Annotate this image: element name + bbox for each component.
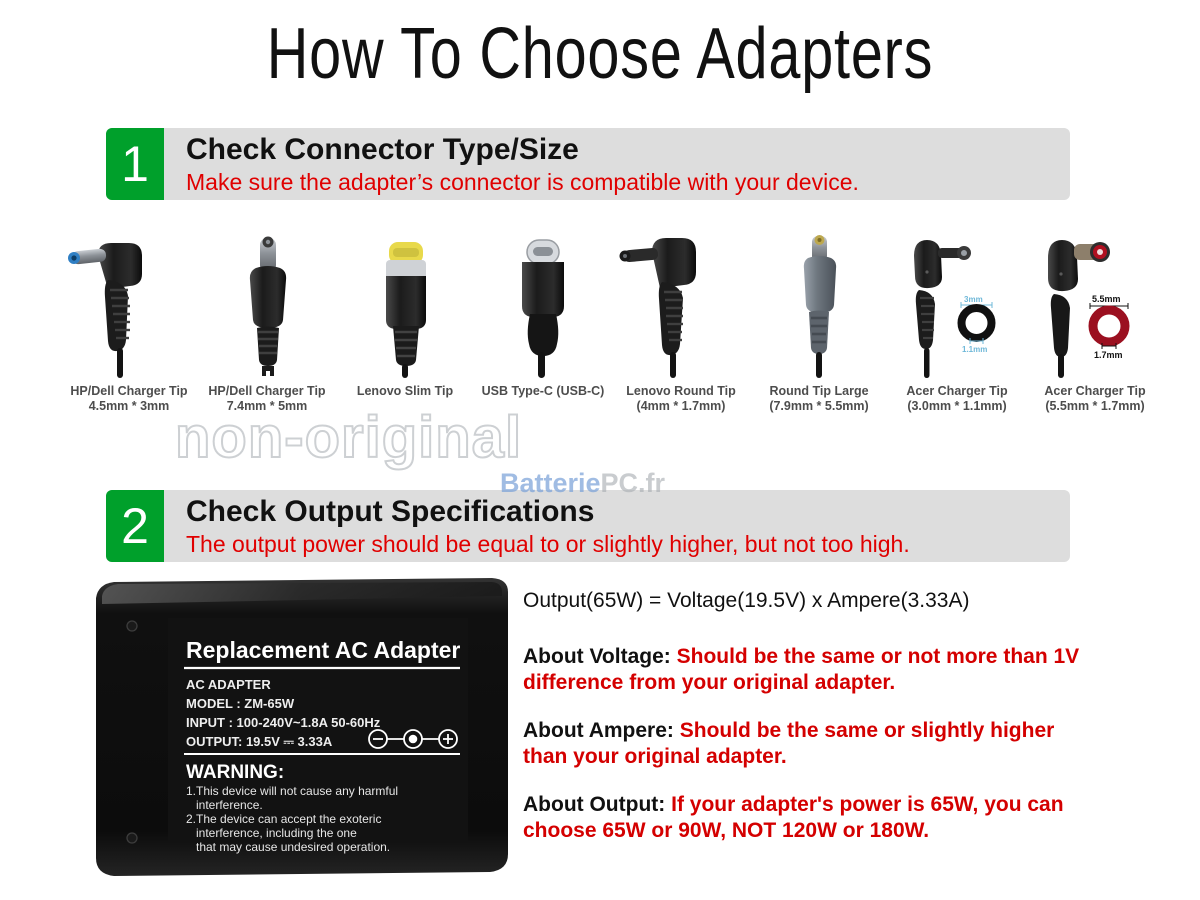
connector-item-lenovo-round: Lenovo Round Tip (4mm * 1.7mm) [612,228,750,428]
spec-item-ampere: About Ampere: Should be the same or slig… [523,718,1083,770]
svg-text:Replacement AC Adapter: Replacement AC Adapter [186,637,460,663]
acer-large-tip-icon: 5.5mm 1.7mm [1026,228,1164,378]
connector-item-hp-dell-45x3: HP/Dell Charger Tip 4.5mm * 3mm [60,228,198,428]
connector-name: Acer Charger Tip [1044,384,1145,398]
connector-dimension: 4.5mm * 3mm [60,399,198,414]
connector-item-hp-dell-74x5: HP/Dell Charger Tip 7.4mm * 5mm [198,228,336,428]
step-1-heading: Check Connector Type/Size [186,133,859,167]
connector-dimension: 7.4mm * 5mm [198,399,336,414]
lenovo-round-tip-icon [612,228,750,378]
svg-text:interference.: interference. [196,798,263,812]
step-1-banner: 1 Check Connector Type/Size Make sure th… [106,128,1070,200]
connector-item-acer-30x11: 3mm 1.1mm Acer Charger Tip (3.0mm * 1.1m… [888,228,1026,428]
page-title: How To Choose Adapters [120,16,1080,92]
step-2-heading: Check Output Specifications [186,495,910,529]
connector-item-round-large: Round Tip Large (7.9mm * 5.5mm) [750,228,888,428]
output-spec-list: Output(65W) = Voltage(19.5V) x Ampere(3.… [523,588,1083,866]
step-2-number-badge: 2 [106,490,164,562]
usb-type-c-icon [474,228,612,378]
connector-name: HP/Dell Charger Tip [70,384,187,398]
connector-name: Acer Charger Tip [906,384,1007,398]
connector-dimension: (5.5mm * 1.7mm) [1026,399,1164,414]
connector-label: USB Type-C (USB-C) [474,384,612,399]
step-2-text-block: Check Output Specifications The output p… [164,490,910,562]
connector-label: Round Tip Large (7.9mm * 5.5mm) [750,384,888,414]
svg-text:OUTPUT: 19.5V ⎓ 3.33A: OUTPUT: 19.5V ⎓ 3.33A [186,734,333,749]
connector-name: Lenovo Round Tip [626,384,735,398]
svg-text:that may cause undesired opera: that may cause undesired operation. [196,840,390,854]
round-tip-large-icon [750,228,888,378]
connector-dimension: (4mm * 1.7mm) [612,399,750,414]
connector-label: Lenovo Slim Tip [336,384,474,399]
hp-dell-barrel-tip-icon [198,228,336,378]
svg-text:MODEL : ZM-65W: MODEL : ZM-65W [186,696,295,711]
output-formula: Output(65W) = Voltage(19.5V) x Ampere(3.… [523,588,1083,614]
svg-text:1.1mm: 1.1mm [962,345,987,354]
connector-label: Lenovo Round Tip (4mm * 1.7mm) [612,384,750,414]
connector-label: HP/Dell Charger Tip 4.5mm * 3mm [60,384,198,414]
svg-text:INPUT : 100-240V~1.8A 50-60H: INPUT : 100-240V~1.8A 50-60Hz [186,715,381,730]
connector-gallery: HP/Dell Charger Tip 4.5mm * 3mm HP/Dell … [60,228,1160,428]
svg-text:interference, including the: interference, including the one [196,826,357,840]
step-2-subheading: The output power should be equal to or s… [186,529,910,559]
connector-name: USB Type-C (USB-C) [482,384,605,398]
svg-text:AC ADAPTER: AC ADAPTER [186,677,271,692]
connector-item-acer-55x17: 5.5mm 1.7mm Acer Charger Tip (5.5mm * 1.… [1026,228,1164,428]
connector-name: HP/Dell Charger Tip [208,384,325,398]
svg-text:1.This device will not cause a: 1.This device will not cause any harmful [186,784,398,798]
acer-small-tip-icon: 3mm 1.1mm [888,228,1026,378]
svg-text:1.7mm: 1.7mm [1094,350,1123,360]
spec-item-output: About Output: If your adapter's power is… [523,792,1083,844]
spec-item-voltage: About Voltage: Should be the same or not… [523,644,1083,696]
step-1-subheading: Make sure the adapter’s connector is com… [186,167,859,197]
svg-text:3mm: 3mm [964,295,983,304]
connector-item-usb-c: USB Type-C (USB-C) [474,228,612,428]
svg-text:WARNING:: WARNING: [186,762,284,783]
step-1-number-badge: 1 [106,128,164,200]
connector-label: Acer Charger Tip (3.0mm * 1.1mm) [888,384,1026,414]
svg-text:5.5mm: 5.5mm [1092,294,1121,304]
step-2-banner: 2 Check Output Specifications The output… [106,490,1070,562]
connector-label: Acer Charger Tip (5.5mm * 1.7mm) [1026,384,1164,414]
ac-adapter-image: Replacement AC Adapter AC ADAPTER MODEL … [88,576,508,886]
svg-text:2.The device can accept the ex: 2.The device can accept the exoteric [186,812,381,826]
connector-item-lenovo-slim: Lenovo Slim Tip [336,228,474,428]
connector-name: Lenovo Slim Tip [357,384,453,398]
hp-dell-blue-tip-icon [60,228,198,378]
connector-dimension: (7.9mm * 5.5mm) [750,399,888,414]
spec-label-voltage: About Voltage: [523,645,671,668]
step-1-text-block: Check Connector Type/Size Make sure the … [164,128,859,200]
connector-label: HP/Dell Charger Tip 7.4mm * 5mm [198,384,336,414]
spec-label-ampere: About Ampere: [523,719,674,742]
spec-label-output: About Output: [523,793,665,816]
connector-name: Round Tip Large [769,384,868,398]
lenovo-slim-tip-icon [336,228,474,378]
connector-dimension: (3.0mm * 1.1mm) [888,399,1026,414]
